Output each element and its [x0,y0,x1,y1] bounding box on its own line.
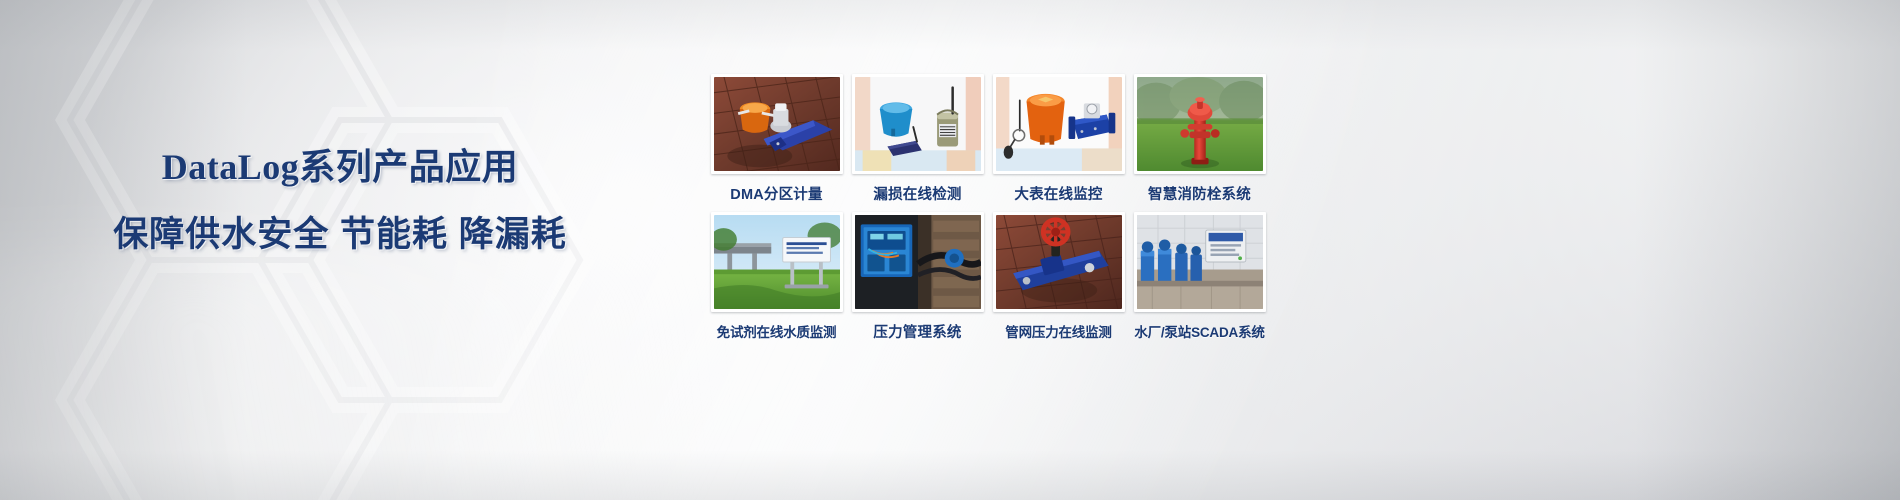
thumbnail-frame[interactable] [711,212,843,312]
tile-caption: DMA分区计量 [730,183,822,204]
thumbnail-frame[interactable] [993,74,1125,174]
headline-block: DataLog系列产品应用 保障供水安全 节能耗 降漏耗 [0,148,680,254]
product-tile[interactable]: DMA分区计量 [706,74,847,209]
headline-secondary: 保障供水安全 节能耗 降漏耗 [0,216,680,255]
product-tile[interactable]: 管网压力在线监测 [988,212,1129,347]
product-tile[interactable]: 智慧消防栓系统 [1129,74,1270,209]
tile-caption: 免试剂在线水质监测 [717,321,837,341]
product-tile[interactable]: 免试剂在线水质监测 [706,212,847,347]
product-tile[interactable]: 漏损在线检测 [847,74,988,209]
scada-system-photo [1137,215,1263,309]
pressure-management-photo [855,215,981,309]
background-sheen-secondary [0,250,680,500]
network-pressure-monitoring-photo [996,215,1122,309]
large-meter-monitoring-photo [996,77,1122,171]
thumbnail-frame[interactable] [852,74,984,174]
tile-caption: 压力管理系统 [873,321,961,342]
thumbnail-frame[interactable] [1134,212,1266,312]
leak-detection-photo [855,77,981,171]
thumbnail-frame[interactable] [993,212,1125,312]
product-tile[interactable]: 压力管理系统 [847,212,988,347]
thumbnail-frame[interactable] [852,212,984,312]
reagent-free-water-quality-photo [714,215,840,309]
tile-caption: 漏损在线检测 [873,183,961,204]
tile-caption: 大表在线监控 [1014,183,1102,204]
thumbnail-frame[interactable] [1134,74,1266,174]
product-tile[interactable]: 大表在线监控 [988,74,1129,209]
tile-caption: 水厂/泵站SCADA系统 [1134,321,1264,341]
headline-primary: DataLog系列产品应用 [0,148,680,188]
tile-caption: 管网压力在线监测 [1005,321,1111,341]
tile-caption: 智慧消防栓系统 [1148,183,1251,204]
product-tile-grid: DMA分区计量 [706,74,1270,347]
product-tile[interactable]: 水厂/泵站SCADA系统 [1129,212,1270,347]
product-application-banner: DataLog系列产品应用 保障供水安全 节能耗 降漏耗 [0,0,1900,500]
thumbnail-frame[interactable] [711,74,843,174]
smart-hydrant-photo [1137,77,1263,171]
dma-metering-photo [714,77,840,171]
